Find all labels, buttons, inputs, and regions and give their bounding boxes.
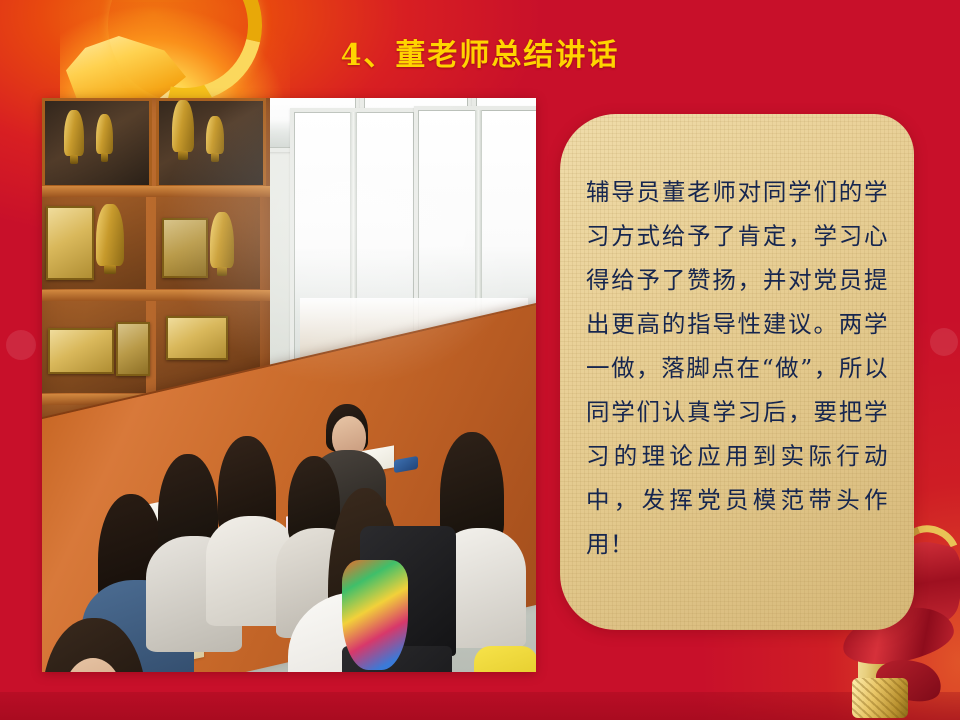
photo-trophy [96, 114, 113, 154]
photo-award-plaque [48, 328, 114, 374]
meeting-photo [42, 98, 536, 672]
photo-scene [42, 98, 536, 672]
photo-trophy [96, 204, 124, 266]
panel-body-text: 辅导员董老师对同学们的学习方式给予了肯定，学习心得给予了赞扬，并对党员提出更高的… [586, 170, 888, 566]
photo-trophy [210, 212, 234, 268]
photo-trophy [206, 116, 224, 154]
photo-award-plaque [116, 322, 150, 376]
photo-cabinet-shelf [42, 290, 270, 301]
page-title: 4、董老师总结讲话 [0, 30, 960, 74]
photo-backpack [342, 560, 408, 670]
text-panel-inner: 辅导员董老师对同学们的学习方式给予了肯定，学习心得给予了赞扬，并对党员提出更高的… [560, 114, 914, 590]
photo-cabinet-shelf [42, 186, 270, 197]
photo-award-plaque [166, 316, 228, 360]
photo-yellow-bag [474, 646, 536, 672]
text-panel: 辅导员董老师对同学们的学习方式给予了肯定，学习心得给予了赞扬，并对党员提出更高的… [560, 114, 914, 630]
photo-award-plaque [46, 206, 94, 280]
photo-award-plaque [162, 218, 208, 278]
photo-trophy [172, 100, 194, 152]
presentation-slide: 4、董老师总结讲话 [0, 0, 960, 720]
bottom-band [0, 692, 960, 720]
photo-trophy [64, 110, 84, 156]
